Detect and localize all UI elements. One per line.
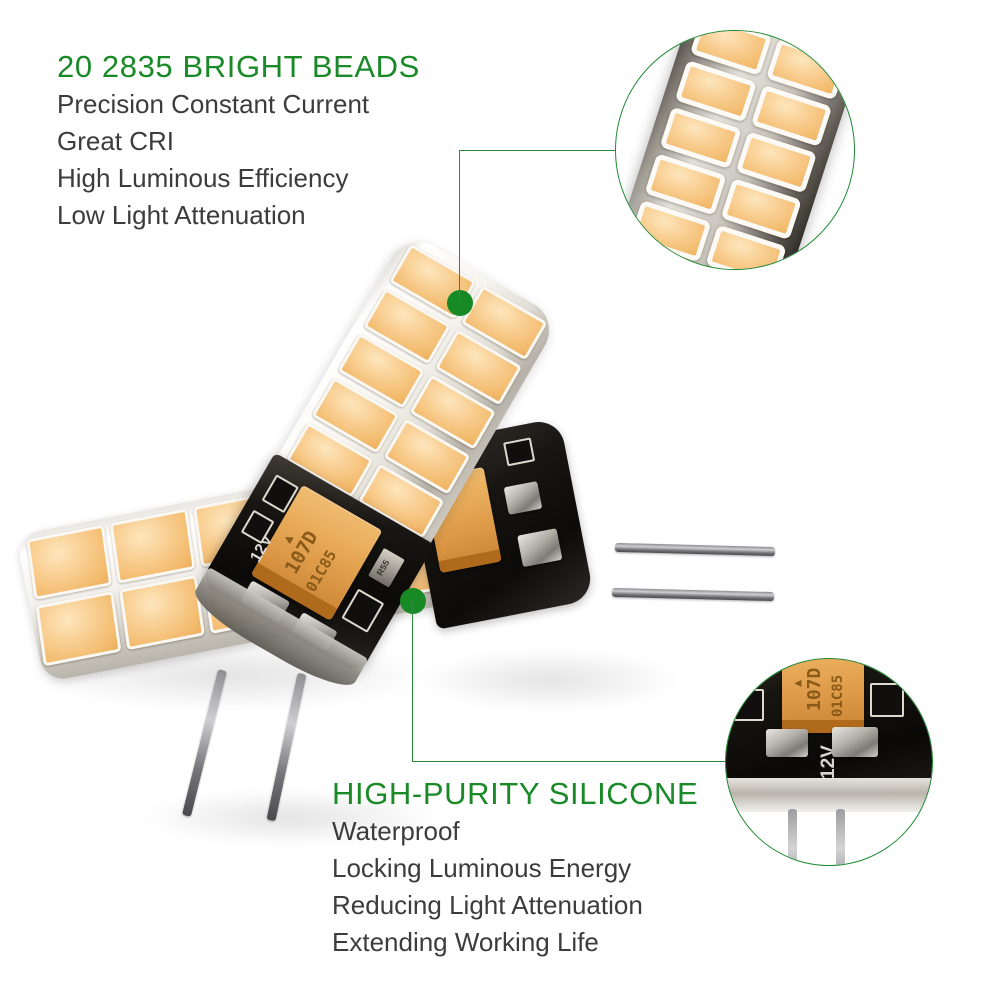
solder-blob (746, 658, 764, 671)
capacitor-code-secondary: 01C85 (302, 547, 340, 595)
macro-driver-capacitor: ▲ 107D 01C85 (782, 658, 864, 733)
macro-base-pin (788, 809, 797, 866)
capacitor-code-primary: 107D (281, 527, 323, 578)
callout-silicone-base[interactable]: ▲ 107D 01C85 12V (725, 658, 933, 866)
feature-top-line-1: Precision Constant Current (57, 86, 420, 123)
pcb-pad (341, 588, 384, 632)
infographic-canvas: ▲ 107D 01C85 12V R55 (0, 0, 1001, 1001)
callout-connector-vertical-top (459, 150, 460, 300)
feature-block-high-purity-silicone: HIGH-PURITY SILICONE Waterproof Locking … (332, 775, 698, 961)
silicone-clear-band (725, 778, 933, 812)
feature-bottom-heading: HIGH-PURITY SILICONE (332, 775, 698, 813)
feature-bottom-line-2: Locking Luminous Energy (332, 850, 698, 887)
feature-block-bright-beads: 20 2835 BRIGHT BEADS Precision Constant … (57, 48, 420, 234)
feature-top-line-4: Low Light Attenuation (57, 197, 420, 234)
feature-top-line-3: High Luminous Efficiency (57, 160, 420, 197)
feature-top-line-2: Great CRI (57, 123, 420, 160)
macro-led-grid (629, 30, 847, 270)
led-bead-array-macro (615, 30, 855, 270)
feature-bottom-line-3: Reducing Light Attenuation (332, 887, 698, 924)
macro-base-pin (836, 809, 845, 866)
rear-bulb-pin (612, 588, 774, 601)
callout-connector-vertical-bottom (412, 600, 413, 762)
macro-capacitor-code-primary: 107D (804, 668, 825, 711)
led-bead (26, 524, 112, 600)
callout-connector-horizontal-top (459, 150, 636, 151)
solder-blob (766, 729, 808, 757)
callout-led-beads-content (616, 31, 854, 269)
rear-bulb-pin (615, 543, 775, 556)
pcb-pad (870, 683, 904, 717)
feature-top-heading: 20 2835 BRIGHT BEADS (57, 48, 420, 86)
macro-capacitor-marker-icon: ▲ (790, 680, 804, 687)
solder-blob (832, 727, 878, 757)
feature-bottom-line-1: Waterproof (332, 813, 698, 850)
feature-bottom-line-4: Extending Working Life (332, 924, 698, 961)
macro-capacitor-code-secondary: 01C85 (830, 675, 846, 717)
led-bead (35, 591, 121, 667)
resistor-code: R55 (375, 558, 392, 577)
pcb-pad (734, 689, 764, 721)
callout-connector-horizontal-bottom (412, 761, 727, 762)
smd-resistor: R55 (368, 548, 405, 588)
callout-silicone-base-content: ▲ 107D 01C85 12V (726, 659, 932, 865)
silicone-base-macro: ▲ 107D 01C85 12V (725, 658, 933, 812)
capacitor-marker-icon: ▲ (280, 532, 297, 546)
callout-led-beads[interactable] (615, 30, 855, 270)
